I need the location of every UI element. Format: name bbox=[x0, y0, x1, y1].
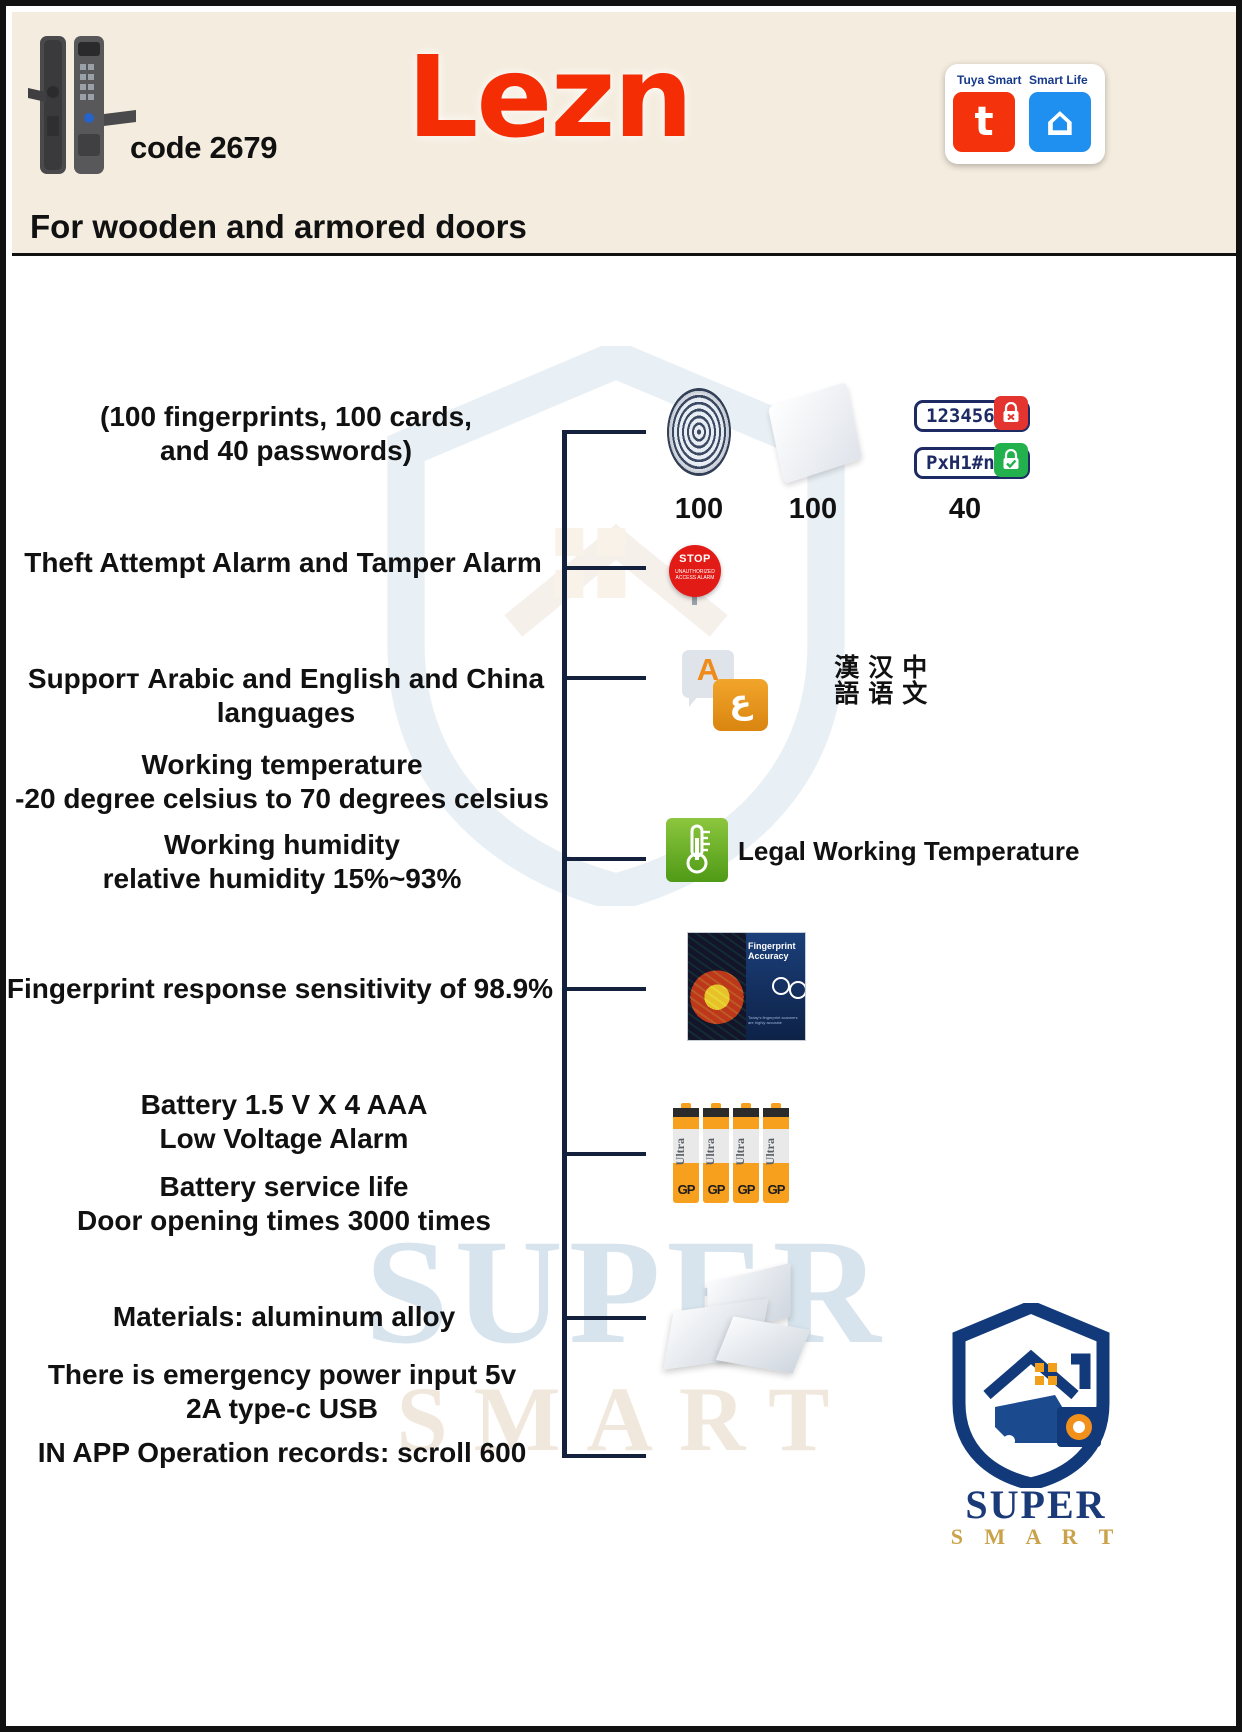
legal-working-temperature-caption: Legal Working Temperature bbox=[738, 836, 1079, 867]
fingerprint-scan-visual bbox=[688, 933, 746, 1040]
battery-line-1: Battery 1.5 V X 4 AAA bbox=[24, 1088, 544, 1122]
humidity-line-2: relative humidity 15%~93% bbox=[14, 862, 550, 896]
languages-line-1: Supporт Arabic and English and China bbox=[26, 662, 546, 696]
thermometer-icon bbox=[666, 818, 728, 882]
credentials-line-2: and 40 passwords) bbox=[36, 434, 536, 468]
power-line-3: IN APP Operation records: scroll 600 bbox=[14, 1436, 550, 1470]
lock-locked-red-icon bbox=[994, 396, 1028, 430]
battery-line-3: Battery service life bbox=[24, 1170, 544, 1204]
tick-materials bbox=[562, 1316, 646, 1320]
battery-brand-label-4: GP bbox=[763, 1182, 789, 1197]
tuya-app-icon: t bbox=[953, 92, 1015, 152]
humidity-line-1: Working humidity bbox=[14, 828, 550, 862]
battery-cap-4 bbox=[763, 1108, 789, 1117]
card-count: 100 bbox=[770, 493, 856, 526]
stop-sign-word: STOP bbox=[669, 553, 721, 565]
battery-line-4: Door opening times 3000 times bbox=[24, 1204, 544, 1238]
temperature-line-2: -20 degree celsius to 70 degrees celsius bbox=[14, 782, 550, 816]
feature-materials-text: Materials: aluminum alloy bbox=[24, 1300, 544, 1334]
timeline-spine bbox=[562, 430, 567, 1458]
arabic-letter-glyph: ع bbox=[713, 681, 768, 724]
smart-life-house-glyph: ⌂ bbox=[1029, 92, 1091, 152]
battery-series-label-4: Ultra bbox=[763, 1138, 789, 1165]
tick-alarm bbox=[562, 566, 646, 570]
feature-temperature-text: Working temperature -20 degree celsius t… bbox=[14, 748, 550, 897]
battery-brand-label-2: GP bbox=[703, 1182, 729, 1197]
tick-temperature bbox=[562, 857, 646, 861]
super-smart-shield-logo bbox=[951, 1303, 1111, 1488]
battery-series-label-1: Ultra bbox=[673, 1138, 699, 1165]
smart-life-app-icon: ⌂ bbox=[1029, 92, 1091, 152]
fingerprint-card-footnote: Today's fingerprint scanners are highly … bbox=[748, 1015, 804, 1025]
battery-cell-3: Ultra GP bbox=[733, 1108, 759, 1203]
battery-series-label-2: Ultra bbox=[703, 1138, 729, 1165]
feature-power-text: There is emergency power input 5v 2A typ… bbox=[14, 1358, 550, 1470]
tuya-smart-label: Tuya Smart bbox=[957, 73, 1021, 87]
temperature-line-1: Working temperature bbox=[14, 748, 550, 782]
feature-credentials-text: (100 fingerprints, 100 cards, and 40 pas… bbox=[36, 400, 536, 468]
product-code-label: code 2679 bbox=[130, 130, 277, 166]
battery-cell-1: Ultra GP bbox=[673, 1108, 699, 1203]
credentials-line-1: (100 fingerprints, 100 cards, bbox=[36, 400, 536, 434]
battery-cap-2 bbox=[703, 1108, 729, 1117]
power-line-2: 2A type-c USB bbox=[14, 1392, 550, 1426]
tick-power bbox=[562, 1454, 646, 1458]
battery-brand-label-1: GP bbox=[673, 1182, 699, 1197]
fp-card-title-line2: Accuracy bbox=[748, 951, 789, 961]
brand-title: Lezn bbox=[407, 42, 691, 154]
cjk-traditional-column: 漢語 bbox=[828, 654, 862, 706]
fp-card-dot-a bbox=[772, 977, 790, 995]
tick-fingerprint bbox=[562, 987, 646, 991]
feature-battery-text: Battery 1.5 V X 4 AAA Low Voltage Alarm … bbox=[24, 1088, 544, 1239]
fp-card-dot-b bbox=[789, 981, 806, 999]
fingerprint-card-title: Fingerprint Accuracy bbox=[748, 941, 804, 962]
footer-logo-super: SUPER bbox=[911, 1481, 1161, 1528]
fingerprint-accuracy-card: Fingerprint Accuracy Today's fingerprint… bbox=[687, 932, 806, 1041]
languages-line-2: languages bbox=[26, 696, 546, 730]
header-subtitle: For wooden and armored doors bbox=[30, 208, 527, 246]
feature-fingerprint-sensitivity-text: Fingerprint response sensitivity of 98.9… bbox=[6, 972, 554, 1006]
battery-line-2: Low Voltage Alarm bbox=[24, 1122, 544, 1156]
cjk-simplified-column: 汉语 bbox=[862, 654, 896, 706]
theft-alarm-stop-icon: STOP UNAUTHORIZED ACCESS ALARM bbox=[669, 545, 721, 597]
battery-cap-3 bbox=[733, 1108, 759, 1117]
tick-languages bbox=[562, 676, 646, 680]
battery-brand-label-3: GP bbox=[733, 1182, 759, 1197]
smart-life-label: Smart Life bbox=[1029, 73, 1088, 87]
lock-unlocked-green-icon bbox=[994, 443, 1028, 477]
battery-cap-1 bbox=[673, 1108, 699, 1117]
feature-languages-text: Supporт Arabic and English and China lan… bbox=[26, 662, 546, 730]
smart-lock-product-image bbox=[24, 30, 144, 180]
battery-series-label-3: Ultra bbox=[733, 1138, 759, 1165]
feature-alarm-text: Theft Attempt Alarm and Tamper Alarm bbox=[16, 546, 550, 580]
cjk-chinese-column: 中文 bbox=[896, 654, 930, 706]
battery-cell-2: Ultra GP bbox=[703, 1108, 729, 1203]
header-divider bbox=[12, 253, 1242, 256]
aluminum-plate-3 bbox=[716, 1316, 810, 1373]
fp-card-title-line1: Fingerprint bbox=[748, 941, 796, 951]
tuya-t-glyph: t bbox=[953, 92, 1015, 152]
fingerprint-count: 100 bbox=[656, 493, 742, 526]
tick-battery bbox=[562, 1152, 646, 1156]
battery-cell-4: Ultra GP bbox=[763, 1108, 789, 1203]
password-count: 40 bbox=[922, 493, 1008, 526]
header-banner: code 2679 Lezn Tuya Smart Smart Life t ⌂… bbox=[12, 12, 1242, 253]
tuya-smart-life-badge: Tuya Smart Smart Life t ⌂ bbox=[945, 64, 1105, 164]
tick-credentials bbox=[562, 430, 646, 434]
fingerprint-icon bbox=[667, 388, 731, 476]
power-line-1: There is emergency power input 5v bbox=[14, 1358, 550, 1392]
rfid-card-icon bbox=[768, 382, 862, 484]
stop-sign-subtext: UNAUTHORIZED ACCESS ALARM bbox=[669, 569, 721, 582]
footer-logo-smart: S M A R T bbox=[911, 1524, 1161, 1550]
infographic-page: code 2679 Lezn Tuya Smart Smart Life t ⌂… bbox=[0, 0, 1242, 1732]
translate-arabic-tile-icon: ع bbox=[713, 679, 768, 731]
